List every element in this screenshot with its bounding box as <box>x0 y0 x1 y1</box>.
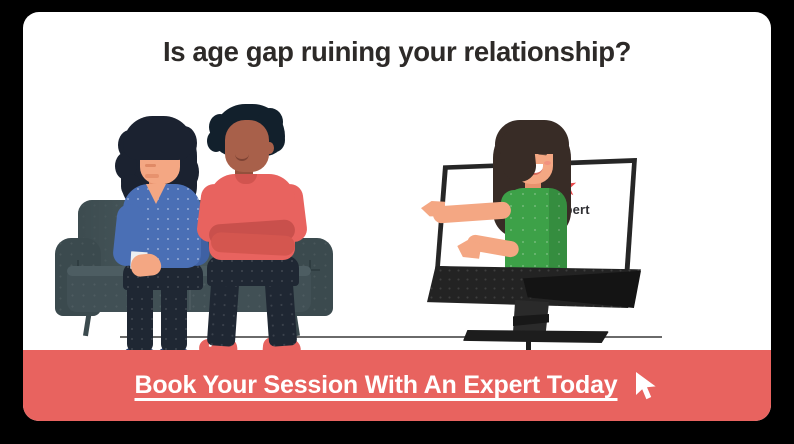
leg-right <box>161 284 187 352</box>
cta-banner[interactable]: Book Your Session With An Expert Today <box>23 350 771 421</box>
leg-left <box>127 284 153 352</box>
nose <box>145 164 156 167</box>
face <box>225 120 269 172</box>
cta-label[interactable]: Book Your Session With An Expert Today <box>135 371 618 400</box>
hand-extended <box>421 200 445 217</box>
hair-curl <box>207 130 225 152</box>
desktop-monitor: Expert <box>427 158 657 348</box>
character-seated-man <box>191 98 331 350</box>
advertisement-card[interactable]: Is age gap ruining your relationship? <box>23 12 771 421</box>
hair-front <box>123 116 193 160</box>
ear <box>265 142 274 154</box>
cheek-right <box>544 161 551 165</box>
leg-left <box>207 279 240 347</box>
lap <box>207 256 299 286</box>
leg-right <box>265 279 298 347</box>
page-title: Is age gap ruining your relationship? <box>23 36 771 68</box>
illustration: Expert <box>23 90 771 340</box>
chin <box>145 174 159 178</box>
monitor-base <box>463 330 609 343</box>
cursor-arrow-icon <box>633 371 659 401</box>
